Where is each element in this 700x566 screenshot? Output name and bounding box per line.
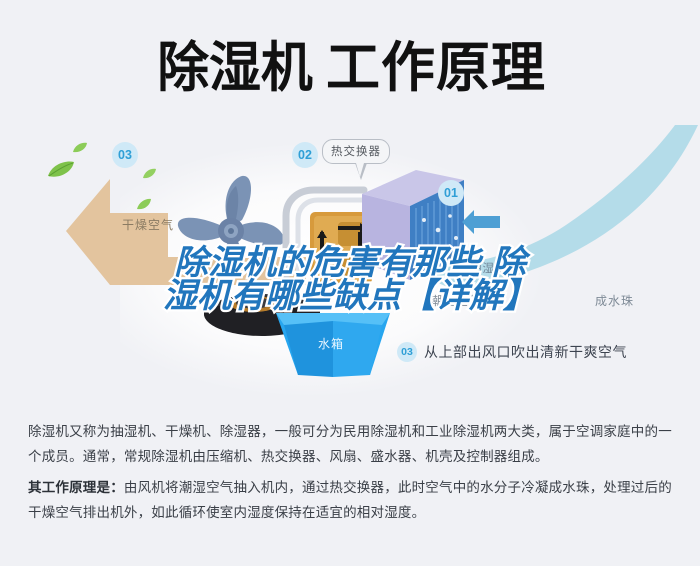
water-tank-label: 水箱	[318, 335, 344, 352]
article-paragraph-2: 其工作原理是：由风机将潮湿空气抽入机内，通过热交换器，此时空气中的水分子冷凝成水…	[28, 476, 676, 526]
page-title-part2: 工作原理	[326, 41, 546, 95]
badge-step-02: 02	[292, 142, 318, 168]
article-paragraph-1: 除湿机又称为抽湿机、干燥机、除湿器，一般可分为民用除湿机和工业除湿机两大类，属于…	[28, 420, 676, 470]
heat-exchanger-icon	[352, 158, 472, 288]
hidden-caption-3: 成水珠	[595, 292, 634, 309]
moist-air-label: 潮湿空气	[470, 260, 520, 276]
badge-step-03: 03	[112, 142, 138, 168]
dehumidifier-diagram: 潮湿空气 干燥空气	[0, 120, 700, 410]
caption-step-03: 03 从上部出风口吹出清新干爽空气	[397, 342, 627, 362]
page-root: 除湿机 工作原理 潮湿空气 干燥空气	[0, 0, 700, 566]
page-title: 除湿机 工作原理	[0, 28, 700, 108]
hidden-caption-1: 潮湿	[449, 250, 475, 267]
leaf-icon	[72, 142, 88, 154]
leaf-icon	[136, 198, 152, 211]
hidden-caption-2: 潮湿空气	[430, 292, 482, 309]
badge-step-03-small: 03	[397, 342, 417, 362]
heat-exchanger-callout: 热交换器	[322, 139, 390, 164]
article-paragraph-2-rest: 由风机将潮湿空气抽入机内，通过热交换器，此时空气中的水分子冷凝成水珠，处理过后的…	[28, 480, 672, 521]
article-paragraph-2-lead: 其工作原理是：	[28, 480, 124, 496]
dry-air-label: 干燥空气	[122, 216, 174, 233]
badge-step-01: 01	[438, 180, 464, 206]
page-title-part1: 除湿机	[157, 41, 313, 95]
article-body: 除湿机又称为抽湿机、干燥机、除湿器，一般可分为民用除湿机和工业除湿机两大类，属于…	[28, 420, 676, 532]
leaf-icon	[46, 160, 76, 180]
leaf-icon	[142, 168, 157, 180]
air-inlet-arrow-icon	[462, 210, 502, 234]
caption-step-03-text: 从上部出风口吹出清新干爽空气	[424, 342, 627, 362]
